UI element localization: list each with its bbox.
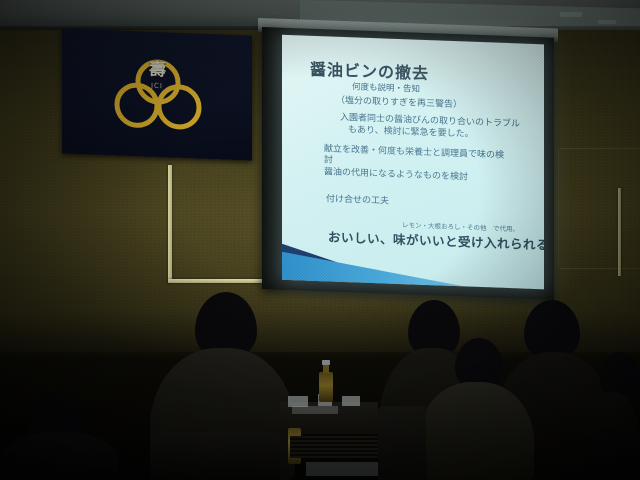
slide-title: 醤油ビンの撤去	[310, 56, 429, 84]
table-paper-4	[292, 406, 338, 414]
chair-back-right	[378, 406, 426, 480]
wall-panel-line-1	[560, 148, 640, 149]
presentation-slide: 醤油ビンの撤去 何度も説明・告知 （塩分の取りすぎを再三警告） 入園者同士の醤油…	[282, 35, 544, 290]
slide-subtitle-2: （塩分の取りすぎを再三警告）	[336, 93, 462, 111]
wall-trim-vertical-right	[618, 188, 621, 276]
emblem-kanji: 壽	[149, 62, 165, 80]
wall-trim-horizontal	[168, 279, 274, 283]
audience-head-3	[524, 300, 580, 360]
slide-paragraph-2-line-1: 献立を改善・何度も栄養士と調理員で味の検	[324, 141, 504, 161]
slide-paragraph-2-line-3: 醤油の代用になるようなものを検討	[324, 164, 468, 182]
photo-scene: 壽 JCI 醤油ビンの撤去 何度も説明・告知 （塩分の取りすぎを再三警告） 入園…	[0, 0, 640, 480]
audience-shoulders-6	[0, 432, 118, 480]
projection-screen: 醤油ビンの撤去 何度も説明・告知 （塩分の取りすぎを再三警告） 入園者同士の醤油…	[262, 27, 554, 300]
table-paper-3	[342, 396, 360, 406]
slide-decoration-triangle-light	[282, 252, 464, 287]
bottle-cap	[322, 360, 330, 365]
chair-back-left	[150, 432, 280, 480]
slide-subtitle-1: 何度も説明・告知	[352, 80, 420, 94]
emblem-subtext: JCI	[151, 82, 163, 90]
beverage-bottle	[319, 372, 333, 402]
ceiling-vent-1	[560, 12, 582, 17]
audience-shoulders-5	[584, 392, 640, 480]
slide-paragraph-3: 付け合せの工夫	[326, 191, 389, 206]
wall-panel-line-3	[558, 148, 559, 268]
wall-panel-line-2	[560, 268, 640, 269]
floor-paper	[306, 462, 384, 476]
ceiling-vent-2	[598, 20, 616, 24]
bottle-neck	[323, 364, 329, 373]
wall-trim-vertical	[168, 165, 172, 283]
audience-shoulders-4	[418, 382, 534, 480]
wall-banner: 壽 JCI	[62, 28, 252, 160]
